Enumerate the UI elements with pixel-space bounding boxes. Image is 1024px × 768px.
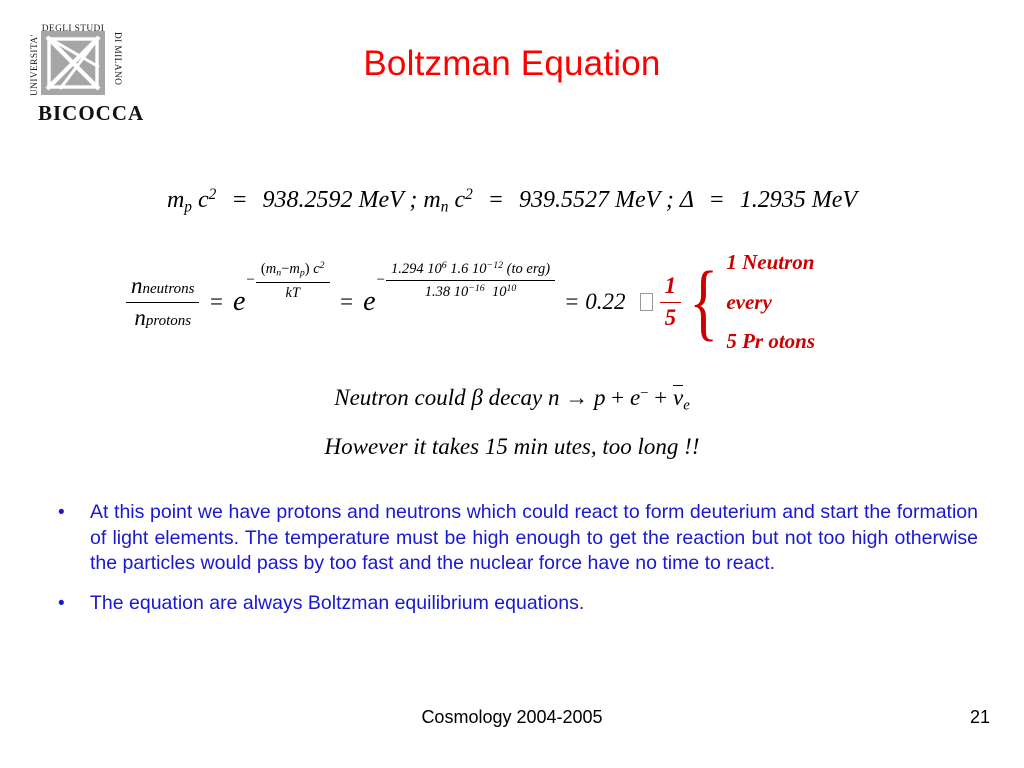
equation-neutron-proton-ratio: nneutrons nprotons = e − (mn−mp) c2 kT =…	[126, 243, 1006, 361]
mass-neutron-value: 939.5527 MeV	[519, 187, 660, 213]
left-curly-brace-icon: {	[689, 271, 718, 333]
bullet-icon: •	[58, 500, 90, 526]
fraction-bar	[126, 302, 199, 303]
c-square-3: 2	[320, 260, 325, 271]
c-symbol-2: c	[454, 187, 465, 213]
exp2-num-a-exponent: 6	[442, 260, 447, 271]
exponential-2: e − 1.294 106 1.6 10−12 (to erg) 1.38 10…	[363, 286, 555, 318]
mass-neutron-symbol: m	[423, 187, 440, 213]
equals-3: =	[709, 187, 725, 213]
footer-course-label: Cosmology 2004-2005	[0, 707, 1024, 728]
exponent-1: − (mn−mp) c2 kT	[246, 260, 329, 302]
exp2-num-b-exponent: −12	[487, 260, 504, 271]
one-fifth-denominator: 5	[660, 305, 682, 332]
beta-symbol: β	[471, 385, 482, 410]
separator-2: ;	[666, 187, 674, 213]
decay-electron: e	[630, 385, 640, 410]
exponent-2-numerator: 1.294 106 1.6 10−12 (to erg)	[386, 260, 555, 278]
one-fifth-fraction: 1 5	[660, 273, 682, 331]
logo-wordmark: BICOCCA	[38, 102, 122, 125]
equation-beta-decay: Neutron could β decay n → p + e− + νe	[0, 385, 1024, 414]
paren-close: )	[305, 261, 310, 277]
antineutrino-subscript: e	[683, 397, 690, 413]
exponent-2-bar	[386, 280, 555, 281]
exp2-den-b-exponent: 10	[506, 283, 516, 294]
exponent-1-minus: −	[246, 272, 254, 289]
exponent-1-numerator: (mn−mp) c2	[256, 260, 330, 280]
exponent-1-bar	[256, 282, 330, 283]
mass-neutron-subscript: n	[441, 199, 449, 216]
ratio-denominator: nprotons	[129, 305, 196, 332]
n-symbol-den: n	[134, 305, 146, 330]
one-fifth-numerator: 1	[660, 273, 682, 300]
e-base-2: e	[363, 286, 375, 318]
exponent-2: − 1.294 106 1.6 10−12 (to erg) 1.38 10−1…	[377, 260, 556, 302]
decay-proton: p	[594, 385, 606, 410]
ratio-fraction: nneutrons nprotons	[126, 273, 199, 331]
bullet-list: • At this point we have protons and neut…	[58, 500, 978, 630]
brace-line-2: every	[726, 290, 815, 315]
decay-arrow-icon: →	[565, 385, 588, 410]
delta-value: 1.2935 MeV	[740, 187, 857, 213]
equation-masses: mp c2 = 938.2592 MeV ; mn c2 = 939.5527 …	[0, 186, 1024, 217]
exponent-2-fraction: 1.294 106 1.6 10−12 (to erg) 1.38 10−16 …	[386, 260, 555, 302]
ratio-numerator: nneutrons	[126, 273, 199, 300]
bullet-icon: •	[58, 591, 90, 617]
c-square-2: 2	[465, 186, 473, 203]
equals-2: =	[488, 187, 504, 213]
mass-proton-value: 938.2592 MeV	[263, 187, 404, 213]
separator-1: ;	[409, 187, 417, 213]
e-base-1: e	[233, 286, 245, 318]
exponent-2-minus: −	[377, 272, 385, 289]
list-item: • At this point we have protons and neut…	[58, 500, 978, 577]
missing-glyph-icon	[640, 293, 653, 311]
bullet-text-1: At this point we have protons and neutro…	[90, 500, 978, 577]
exponent-1-fraction: (mn−mp) c2 kT	[256, 260, 330, 302]
mp-symbol: m	[289, 261, 299, 277]
exp2-den-a: 1.38 10	[425, 284, 469, 300]
equation-however-note: However it takes 15 min utes, too long !…	[0, 434, 1024, 460]
equals-1: =	[231, 187, 247, 213]
n-symbol-num: n	[131, 273, 143, 298]
mn-symbol: m	[266, 261, 276, 277]
decay-middle: decay n	[489, 385, 560, 410]
result-value: = 0.22	[564, 289, 626, 315]
brace-line-3: 5 Pr otons	[726, 329, 815, 354]
c-square-1: 2	[209, 186, 217, 203]
one-fifth-bar	[660, 302, 682, 303]
list-item: • The equation are always Boltzman equil…	[58, 591, 978, 617]
decay-plus-1: +	[611, 385, 624, 410]
brace-line-1: 1 Neutron	[726, 250, 815, 275]
exp2-den-a-exponent: −16	[468, 283, 485, 294]
exponent-1-denominator: kT	[280, 285, 305, 302]
antineutrino-symbol: ν	[673, 385, 683, 409]
svg-text:DEGLI STUDI: DEGLI STUDI	[42, 24, 104, 34]
decay-plus-2: +	[654, 385, 667, 410]
c-symbol-1: c	[198, 187, 209, 213]
bullet-text-2: The equation are always Boltzman equilib…	[90, 591, 978, 617]
equals-4: =	[208, 289, 224, 315]
brace-lines: 1 Neutron every 5 Pr otons	[726, 247, 815, 357]
mass-proton-subscript: p	[184, 199, 192, 216]
ratio-denominator-subscript: protons	[146, 313, 191, 329]
exponent-2-denominator: 1.38 10−16 1010	[420, 283, 522, 301]
equals-5: =	[339, 289, 355, 315]
mass-proton-symbol: m	[167, 187, 184, 213]
exp2-num-b: 1.6 10	[450, 261, 486, 277]
exp2-num-a: 1.294 10	[391, 261, 442, 277]
page-title: Boltzman Equation	[0, 44, 1024, 84]
ratio-numerator-subscript: neutrons	[143, 281, 195, 297]
decay-prefix: Neutron could	[334, 385, 465, 410]
page-number: 21	[970, 707, 990, 728]
neutron-per-proton-annotation: 1 5 { 1 Neutron every 5 Pr otons	[660, 247, 815, 357]
exp2-den-b: 10	[492, 284, 507, 300]
exponential-1: e − (mn−mp) c2 kT	[233, 286, 330, 318]
decay-electron-charge: −	[640, 385, 648, 401]
exp2-num-note: (to erg)	[507, 261, 550, 277]
delta-symbol: Δ	[680, 187, 694, 213]
